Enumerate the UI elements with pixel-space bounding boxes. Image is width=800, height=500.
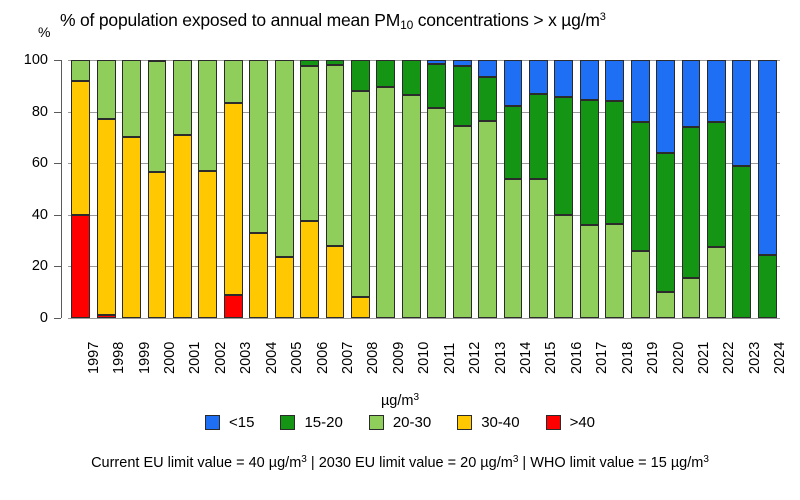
legend-title-base: µg/m bbox=[381, 393, 414, 409]
legend-swatch-<15 bbox=[205, 415, 220, 430]
x-axis-label-2022: 2022 bbox=[722, 342, 737, 374]
bar-segment-2009-15-20[interactable] bbox=[376, 60, 395, 87]
bar-1999[interactable] bbox=[122, 60, 141, 318]
bar-segment-2005-30-40[interactable] bbox=[275, 257, 294, 318]
x-axis-label-2008: 2008 bbox=[366, 342, 381, 374]
bar-segment-2022-<15[interactable] bbox=[707, 60, 726, 122]
x-axis-label-2024: 2024 bbox=[773, 342, 788, 374]
bar-segment-2005-20-30[interactable] bbox=[275, 60, 294, 257]
y-axis-tick bbox=[54, 163, 61, 164]
bar-segment-2018-<15[interactable] bbox=[605, 60, 624, 101]
legend: <1515-2020-3030-40>40 bbox=[0, 414, 800, 431]
bar-2002[interactable] bbox=[198, 60, 217, 318]
x-axis-label-2010: 2010 bbox=[417, 342, 432, 374]
bar-segment-2010-20-30[interactable] bbox=[402, 95, 421, 318]
bar-2020[interactable] bbox=[656, 60, 675, 318]
x-axis-label-2013: 2013 bbox=[494, 342, 509, 374]
bar-segment-2013-<15[interactable] bbox=[478, 60, 497, 77]
x-axis-label-2012: 2012 bbox=[468, 342, 483, 374]
bar-segment-2015-20-30[interactable] bbox=[529, 179, 548, 318]
bar-segment-2018-20-30[interactable] bbox=[605, 224, 624, 318]
bar-segment-2024-<15[interactable] bbox=[758, 60, 777, 255]
x-axis-label-2001: 2001 bbox=[188, 342, 203, 374]
bar-segment-2007-20-30[interactable] bbox=[326, 65, 345, 246]
bar-segment-2024-15-20[interactable] bbox=[758, 255, 777, 318]
bar-segment-2023-<15[interactable] bbox=[732, 60, 751, 166]
bar-segment-2019-15-20[interactable] bbox=[631, 122, 650, 251]
x-axis-label-1998: 1998 bbox=[112, 342, 127, 374]
bar-segment-2020-20-30[interactable] bbox=[656, 292, 675, 318]
bar-2014[interactable] bbox=[504, 60, 523, 318]
bar-segment-2001-20-30[interactable] bbox=[173, 60, 192, 135]
x-axis-label-2019: 2019 bbox=[646, 342, 661, 374]
x-axis-label-2006: 2006 bbox=[316, 342, 331, 374]
chart-title-superscript: 3 bbox=[600, 11, 606, 23]
bar-segment-1997-20-30[interactable] bbox=[71, 60, 90, 81]
bar-segment-2003->40[interactable] bbox=[224, 295, 243, 318]
legend-label-20-30: 20-30 bbox=[393, 414, 431, 431]
bar-segment-1999-30-40[interactable] bbox=[122, 137, 141, 318]
legend-label-15-20: 15-20 bbox=[304, 414, 342, 431]
bar-2004[interactable] bbox=[249, 60, 268, 318]
y-axis-tick bbox=[54, 266, 61, 267]
bar-segment-2017-15-20[interactable] bbox=[580, 100, 599, 225]
legend-label-<15: <15 bbox=[229, 414, 254, 431]
bar-segment-1998-20-30[interactable] bbox=[97, 60, 116, 119]
bar-segment-2018-15-20[interactable] bbox=[605, 101, 624, 224]
bar-segment-2015-<15[interactable] bbox=[529, 60, 548, 94]
bar-segment-2023-15-20[interactable] bbox=[732, 166, 751, 318]
bar-segment-2012-<15[interactable] bbox=[453, 60, 472, 66]
bar-segment-2015-15-20[interactable] bbox=[529, 94, 548, 179]
bar-2008[interactable] bbox=[351, 60, 370, 318]
bar-segment-2009-20-30[interactable] bbox=[376, 87, 395, 318]
bar-segment-1998-30-40[interactable] bbox=[97, 119, 116, 315]
bar-segment-2008-20-30[interactable] bbox=[351, 91, 370, 297]
bar-segment-1999-20-30[interactable] bbox=[122, 60, 141, 137]
y-axis-unit-label: % bbox=[38, 24, 50, 40]
bar-2010[interactable] bbox=[402, 60, 421, 318]
footer-part-3-sup: 3 bbox=[703, 454, 709, 465]
bar-segment-2021-<15[interactable] bbox=[682, 60, 701, 127]
y-axis-tick bbox=[54, 60, 61, 61]
x-axis-label-2021: 2021 bbox=[697, 342, 712, 374]
bar-segment-2011-20-30[interactable] bbox=[427, 108, 446, 318]
y-axis-tick-label: 20 bbox=[4, 259, 48, 274]
bar-segment-2017-<15[interactable] bbox=[580, 60, 599, 100]
chart-title-subscript: 10 bbox=[400, 18, 413, 32]
x-axis-label-2002: 2002 bbox=[214, 342, 229, 374]
bar-segment-2002-20-30[interactable] bbox=[198, 60, 217, 171]
legend-swatch-30-40 bbox=[457, 415, 472, 430]
x-axis-label-2003: 2003 bbox=[239, 342, 254, 374]
bar-segment-2006-20-30[interactable] bbox=[300, 66, 319, 221]
bar-segment-1998->40[interactable] bbox=[97, 315, 116, 318]
y-axis-line bbox=[61, 60, 62, 318]
bar-2003[interactable] bbox=[224, 60, 243, 318]
bar-2017[interactable] bbox=[580, 60, 599, 318]
footer-separator-1: | bbox=[307, 455, 319, 471]
x-axis-label-2016: 2016 bbox=[570, 342, 585, 374]
y-axis-tick bbox=[54, 215, 61, 216]
y-axis-tick bbox=[54, 318, 61, 319]
legend-title: µg/m3 bbox=[0, 393, 800, 409]
bar-segment-2016-15-20[interactable] bbox=[554, 97, 573, 214]
bar-segment-2001-30-40[interactable] bbox=[173, 135, 192, 318]
bar-segment-2014-20-30[interactable] bbox=[504, 179, 523, 318]
bar-2019[interactable] bbox=[631, 60, 650, 318]
y-axis-tick-label: 40 bbox=[4, 208, 48, 223]
bar-segment-2011-<15[interactable] bbox=[427, 60, 446, 64]
bar-segment-2021-20-30[interactable] bbox=[682, 278, 701, 318]
legend-item-15-20[interactable]: 15-20 bbox=[280, 414, 342, 431]
gridline bbox=[68, 318, 780, 319]
legend-swatch-15-20 bbox=[280, 415, 295, 430]
bar-segment-2019-20-30[interactable] bbox=[631, 251, 650, 318]
bar-segment-2012-15-20[interactable] bbox=[453, 66, 472, 125]
bar-segment-2004-20-30[interactable] bbox=[249, 60, 268, 233]
y-axis-tick bbox=[54, 112, 61, 113]
bar-segment-2002-30-40[interactable] bbox=[198, 171, 217, 318]
bar-segment-2014-15-20[interactable] bbox=[504, 106, 523, 178]
x-axis-label-2015: 2015 bbox=[544, 342, 559, 374]
bar-segment-2017-20-30[interactable] bbox=[580, 225, 599, 318]
legend-item-20-30[interactable]: 20-30 bbox=[369, 414, 431, 431]
x-axis-label-2023: 2023 bbox=[748, 342, 763, 374]
bar-segment-2000-15-20[interactable] bbox=[148, 60, 167, 62]
legend-swatch->40 bbox=[546, 415, 561, 430]
bar-segment-2014-<15[interactable] bbox=[504, 60, 523, 106]
y-axis-tick-label: 80 bbox=[4, 105, 48, 120]
x-axis-label-2018: 2018 bbox=[621, 342, 636, 374]
bar-segment-2020-<15[interactable] bbox=[656, 60, 675, 153]
bar-2015[interactable] bbox=[529, 60, 548, 318]
footer-part-1-sup: 3 bbox=[301, 454, 307, 465]
legend-swatch-20-30 bbox=[369, 415, 384, 430]
legend-label->40: >40 bbox=[570, 414, 595, 431]
bar-segment-2022-15-20[interactable] bbox=[707, 122, 726, 247]
bar-2016[interactable] bbox=[554, 60, 573, 318]
bar-segment-2011-15-20[interactable] bbox=[427, 64, 446, 108]
bar-segment-2010-15-20[interactable] bbox=[402, 60, 421, 95]
bar-segment-2012-20-30[interactable] bbox=[453, 126, 472, 318]
bar-2021[interactable] bbox=[682, 60, 701, 318]
x-axis-label-2011: 2011 bbox=[443, 343, 458, 374]
plot-area bbox=[68, 60, 780, 318]
bar-2013[interactable] bbox=[478, 60, 497, 318]
bar-2018[interactable] bbox=[605, 60, 624, 318]
bar-segment-2016-20-30[interactable] bbox=[554, 215, 573, 318]
legend-label-30-40: 30-40 bbox=[481, 414, 519, 431]
bar-segment-2019-<15[interactable] bbox=[631, 60, 650, 122]
bar-2011[interactable] bbox=[427, 60, 446, 318]
chart-title-prefix: % of population exposed to annual mean P… bbox=[60, 10, 400, 30]
bar-segment-2007-15-20[interactable] bbox=[326, 60, 345, 65]
legend-item-30-40[interactable]: 30-40 bbox=[457, 414, 519, 431]
y-axis-tick-label: 100 bbox=[4, 53, 48, 68]
x-axis-label-2000: 2000 bbox=[163, 342, 178, 374]
bar-segment-2006-15-20[interactable] bbox=[300, 60, 319, 66]
x-axis-label-1997: 1997 bbox=[87, 342, 102, 374]
bar-segment-2003-20-30[interactable] bbox=[224, 60, 243, 103]
bar-segment-2021-15-20[interactable] bbox=[682, 127, 701, 278]
y-axis-tick-label: 0 bbox=[4, 311, 48, 326]
bar-segment-2022-20-30[interactable] bbox=[707, 247, 726, 318]
legend-item-<15[interactable]: <15 bbox=[205, 414, 254, 431]
bar-segment-2013-15-20[interactable] bbox=[478, 77, 497, 121]
x-axis-label-2017: 2017 bbox=[595, 342, 610, 374]
bar-2009[interactable] bbox=[376, 60, 395, 318]
x-axis-label-2005: 2005 bbox=[290, 342, 305, 374]
bar-2023[interactable] bbox=[732, 60, 751, 318]
bar-segment-2000-20-30[interactable] bbox=[148, 61, 167, 172]
x-axis-label-2009: 2009 bbox=[392, 342, 407, 374]
bar-2024[interactable] bbox=[758, 60, 777, 318]
bar-segment-2008-15-20[interactable] bbox=[351, 60, 370, 91]
footer-part-2: 2030 EU limit value = 20 µg/m bbox=[319, 455, 513, 471]
bar-2005[interactable] bbox=[275, 60, 294, 318]
x-axis-label-1999: 1999 bbox=[138, 342, 153, 374]
bar-2006[interactable] bbox=[300, 60, 319, 318]
x-axis-label-2007: 2007 bbox=[341, 342, 356, 374]
bar-segment-2004-30-40[interactable] bbox=[249, 233, 268, 318]
bar-2007[interactable] bbox=[326, 60, 345, 318]
chart-title: % of population exposed to annual mean P… bbox=[60, 10, 790, 31]
chart-title-middle: concentrations > x µg/m bbox=[413, 10, 600, 30]
bar-segment-2007-30-40[interactable] bbox=[326, 246, 345, 318]
footer-separator-2: | bbox=[518, 455, 530, 471]
legend-item->40[interactable]: >40 bbox=[546, 414, 595, 431]
bar-2001[interactable] bbox=[173, 60, 192, 318]
x-axis-label-2020: 2020 bbox=[672, 342, 687, 374]
footer-part-2-sup: 3 bbox=[513, 454, 519, 465]
bar-segment-2013-20-30[interactable] bbox=[478, 121, 497, 318]
bar-segment-2016-<15[interactable] bbox=[554, 60, 573, 97]
footer-part-3: WHO limit value = 15 µg/m bbox=[530, 455, 703, 471]
pm10-exposure-chart: % of population exposed to annual mean P… bbox=[0, 0, 800, 500]
bar-segment-2003-30-40[interactable] bbox=[224, 103, 243, 295]
bar-segment-2008-30-40[interactable] bbox=[351, 297, 370, 318]
footer-part-1: Current EU limit value = 40 µg/m bbox=[91, 455, 301, 471]
bar-segment-2020-15-20[interactable] bbox=[656, 153, 675, 292]
y-axis-tick-label: 60 bbox=[4, 156, 48, 171]
x-axis-label-2004: 2004 bbox=[265, 342, 280, 374]
bar-segment-1997->40[interactable] bbox=[71, 215, 90, 318]
bar-1997[interactable] bbox=[71, 60, 90, 318]
x-axis-label-2014: 2014 bbox=[519, 342, 534, 374]
bar-segment-1997-30-40[interactable] bbox=[71, 81, 90, 215]
bar-2000[interactable] bbox=[148, 60, 167, 318]
bar-segment-2000-30-40[interactable] bbox=[148, 172, 167, 318]
bar-segment-2006-30-40[interactable] bbox=[300, 221, 319, 318]
bar-1998[interactable] bbox=[97, 60, 116, 318]
bar-2022[interactable] bbox=[707, 60, 726, 318]
legend-title-sup: 3 bbox=[413, 392, 419, 403]
footer-note: Current EU limit value = 40 µg/m3 | 2030… bbox=[0, 455, 800, 471]
bar-2012[interactable] bbox=[453, 60, 472, 318]
